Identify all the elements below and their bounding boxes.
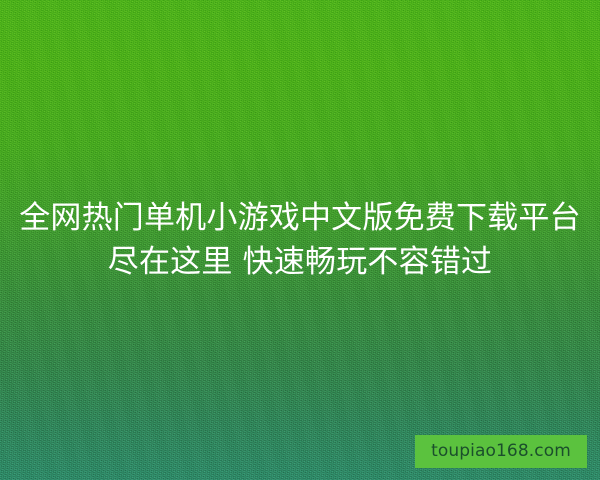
watermark-text: toupiao168.com <box>431 443 571 460</box>
headline: 全网热门单机小游戏中文版免费下载平台 尽在这里 快速畅玩不容错过 <box>0 196 600 284</box>
headline-line-2: 尽在这里 快速畅玩不容错过 <box>0 240 600 284</box>
promo-banner: 全网热门单机小游戏中文版免费下载平台 尽在这里 快速畅玩不容错过 toupiao… <box>0 0 600 480</box>
headline-line-1: 全网热门单机小游戏中文版免费下载平台 <box>0 196 600 240</box>
watermark-badge: toupiao168.com <box>415 435 587 468</box>
